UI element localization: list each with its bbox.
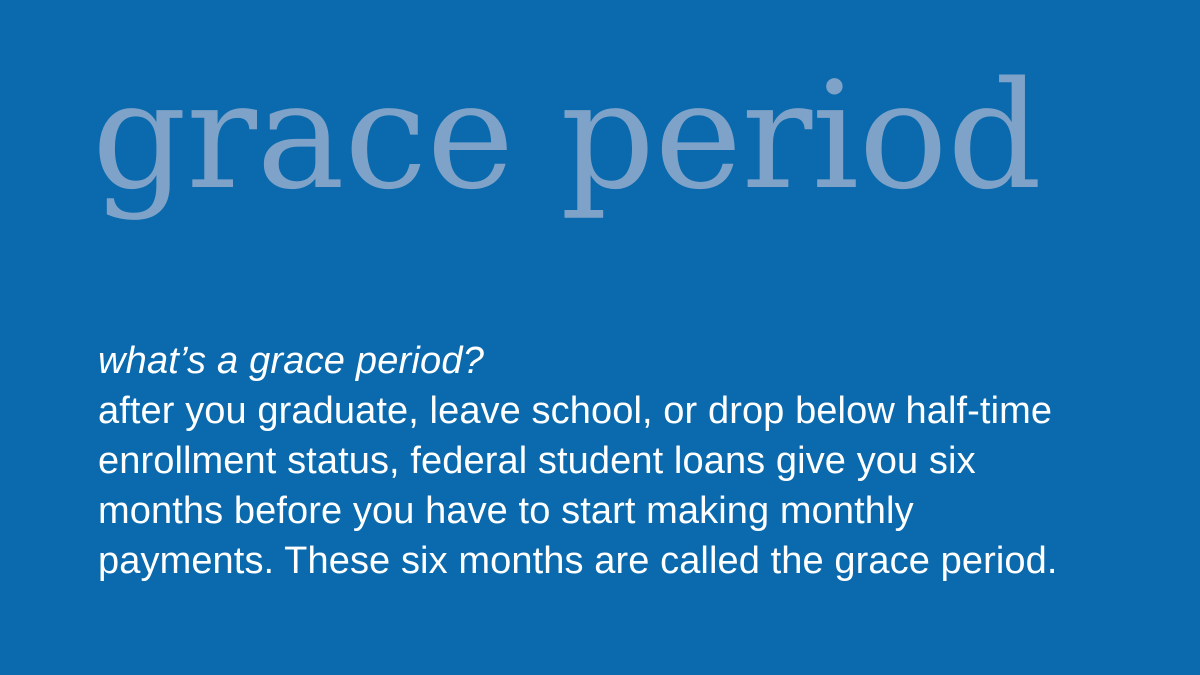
definition-text-block: what’s a grace period? after you graduat… (98, 336, 1138, 586)
definition-body-line-2: enrollment status, federal student loans… (98, 436, 1138, 486)
page-title: grace period (92, 62, 1112, 210)
definition-body-line-3: months before you have to start making m… (98, 486, 1138, 536)
definition-body-line-4: payments. These six months are called th… (98, 536, 1138, 586)
definition-body-line-1: after you graduate, leave school, or dro… (98, 386, 1138, 436)
definition-slide: grace period what’s a grace period? afte… (0, 0, 1200, 675)
definition-question: what’s a grace period? (98, 336, 1138, 386)
